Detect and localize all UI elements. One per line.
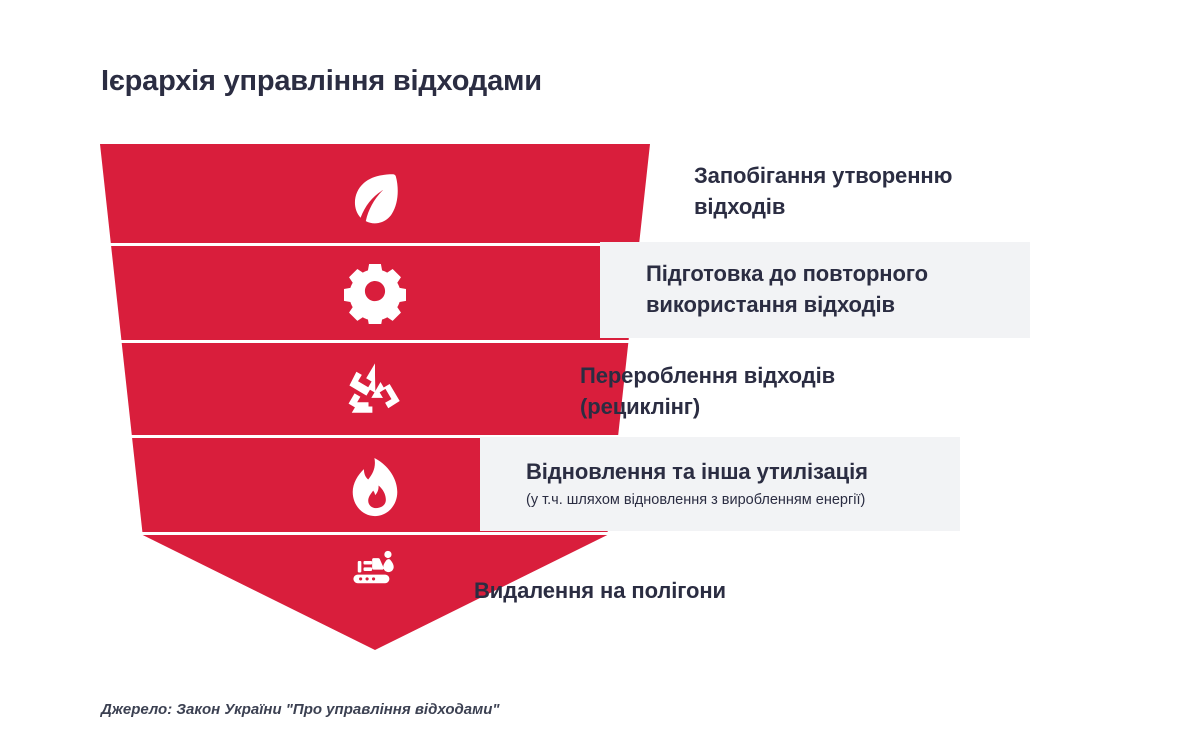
source-note: Джерело: Закон України "Про управління в…	[101, 701, 500, 718]
level-4-label-main: Відновлення та інша утилізація	[526, 459, 868, 484]
level-1-label: Запобігання утворенню відходів	[694, 160, 1024, 222]
level-5-label: Видалення на полігони	[474, 575, 834, 606]
level-4-label-sub: (у т.ч. шляхом відновлення з виробленням…	[526, 491, 966, 510]
pyramid-band-2	[111, 246, 639, 340]
level-4-label: Відновлення та інша утилізація (у т.ч. ш…	[526, 456, 966, 510]
pyramid-band-1	[100, 144, 650, 243]
pyramid-band-3	[122, 343, 629, 435]
level-2-label: Підготовка до повторного використання ві…	[646, 258, 1006, 320]
page-title: Ієрархія управління відходами	[101, 65, 542, 98]
level-3-label: Перероблення відходів (рециклінг)	[580, 360, 960, 422]
